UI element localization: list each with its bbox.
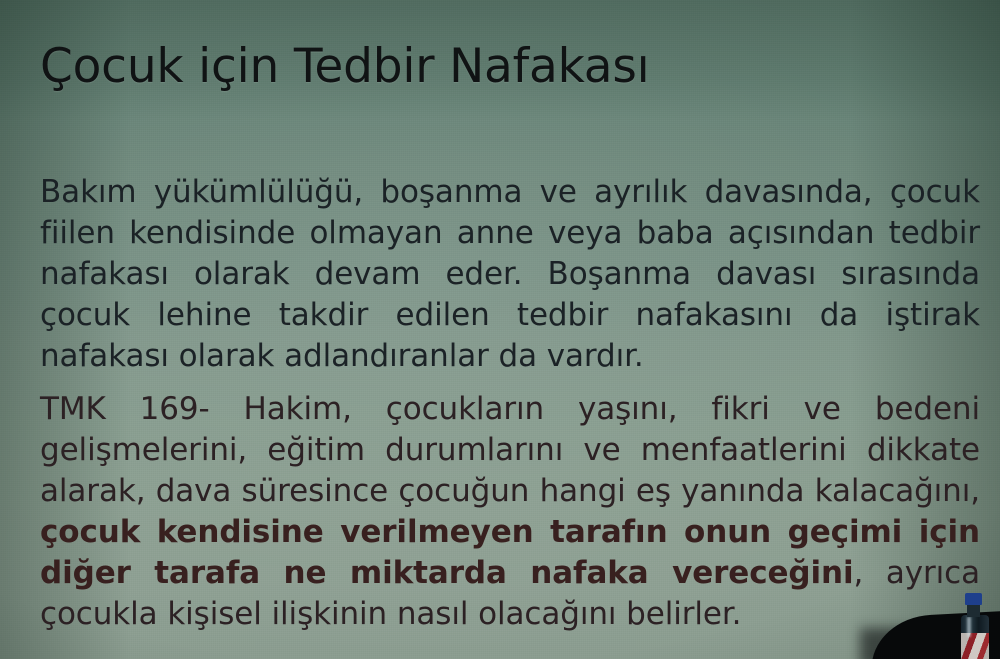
- projected-slide-photo: Çocuk için Tedbir Nafakası Bakım yükümlü…: [0, 0, 1000, 659]
- paragraph-tmk-169: TMK 169- Hakim, çocukların yaşını, fikri…: [40, 389, 980, 635]
- tmk-169-emphasis-text: çocuk kendisine verilmeyen tarafın onun …: [40, 514, 980, 591]
- bottle-neck: [967, 604, 980, 617]
- slide-body: Bakım yükümlülüğü, boşanma ve ayrılık da…: [40, 172, 980, 635]
- bottle-label: [961, 633, 989, 659]
- tmk-169-lead-text: TMK 169- Hakim, çocukların yaşını, fikri…: [40, 391, 980, 509]
- water-bottle: [958, 593, 992, 659]
- slide-content: Çocuk için Tedbir Nafakası Bakım yükümlü…: [0, 0, 1000, 659]
- paragraph-bakim-yukumlulugu: Bakım yükümlülüğü, boşanma ve ayrılık da…: [40, 172, 980, 377]
- bottle-highlight: [967, 617, 971, 637]
- bottle-cap: [965, 593, 982, 605]
- slide-title: Çocuk için Tedbir Nafakası: [40, 42, 650, 91]
